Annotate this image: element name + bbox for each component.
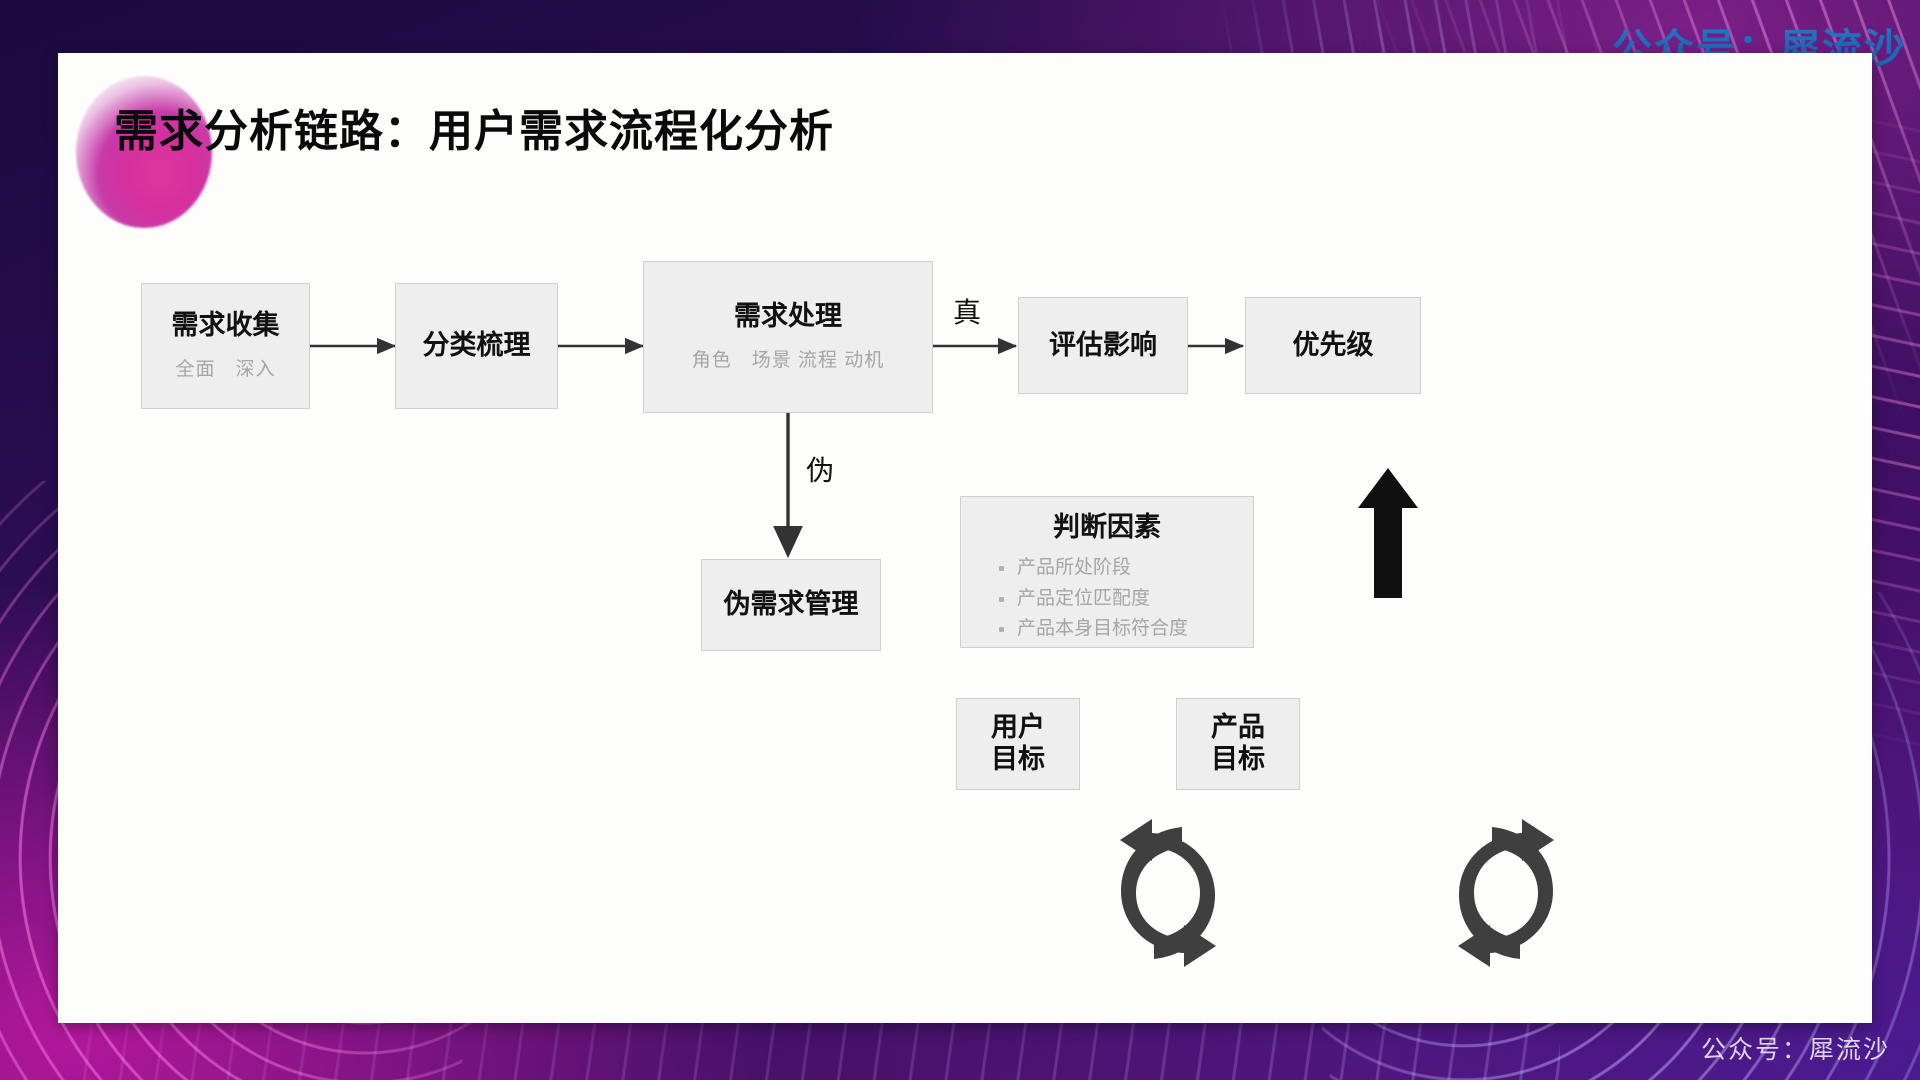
node-evaluate[interactable]: 评估影响 — [1018, 297, 1188, 394]
list-item: 产品所处阶段 — [997, 553, 1233, 584]
arrow-up-bold-icon — [1358, 468, 1418, 598]
list-item: 产品本身目标符合度 — [997, 614, 1233, 645]
curved-arrow-ccw-group — [1458, 819, 1554, 967]
node-classify-title: 分类梳理 — [423, 329, 531, 363]
watermark-bottom: 公众号：犀流沙 — [1701, 1030, 1890, 1066]
slide-panel: 需求分析链路：用户需求流程化分析 — [58, 53, 1872, 1023]
node-evaluate-title: 评估影响 — [1049, 329, 1157, 363]
node-user-goal-line2: 目标 — [991, 744, 1045, 774]
node-classify[interactable]: 分类梳理 — [395, 283, 558, 409]
node-product-goal-line2: 目标 — [1211, 744, 1265, 774]
edge-label-true: 真 — [953, 291, 981, 331]
edge-label-false: 伪 — [806, 449, 834, 489]
node-product-goal[interactable]: 产品 目标 — [1176, 698, 1300, 790]
node-user-goal[interactable]: 用户 目标 — [956, 698, 1080, 790]
node-process-subtitle: 角色 场景 流程 动机 — [692, 345, 885, 372]
node-priority[interactable]: 优先级 — [1245, 297, 1421, 394]
node-collect-title: 需求收集 — [172, 309, 280, 343]
node-priority-title: 优先级 — [1293, 329, 1374, 363]
node-user-goal-line1: 用户 — [991, 712, 1045, 742]
list-item: 产品定位匹配度 — [997, 584, 1233, 615]
node-collect-subtitle: 全面 深入 — [175, 354, 275, 381]
node-process-title: 需求处理 — [734, 300, 842, 334]
node-process[interactable]: 需求处理 角色 场景 流程 动机 — [643, 261, 933, 413]
node-judgement-factors[interactable]: 判断因素 产品所处阶段 产品定位匹配度 产品本身目标符合度 — [960, 496, 1254, 648]
node-fake-demand-title: 伪需求管理 — [724, 588, 859, 622]
slide-stage: 公众号：犀流沙 需求分析链路：用户需求流程化分析 — [0, 0, 1920, 1080]
node-fake-demand[interactable]: 伪需求管理 — [701, 559, 881, 651]
flowchart-canvas: 需求收集 全面 深入 分类梳理 需求处理 角色 场景 流程 动机 评估影响 优先… — [58, 53, 1872, 1023]
node-judgement-factors-title: 判断因素 — [1053, 511, 1161, 545]
node-product-goal-line1: 产品 — [1211, 712, 1265, 742]
node-collect[interactable]: 需求收集 全面 深入 — [141, 283, 310, 409]
judgement-factors-list: 产品所处阶段 产品定位匹配度 产品本身目标符合度 — [981, 553, 1233, 645]
